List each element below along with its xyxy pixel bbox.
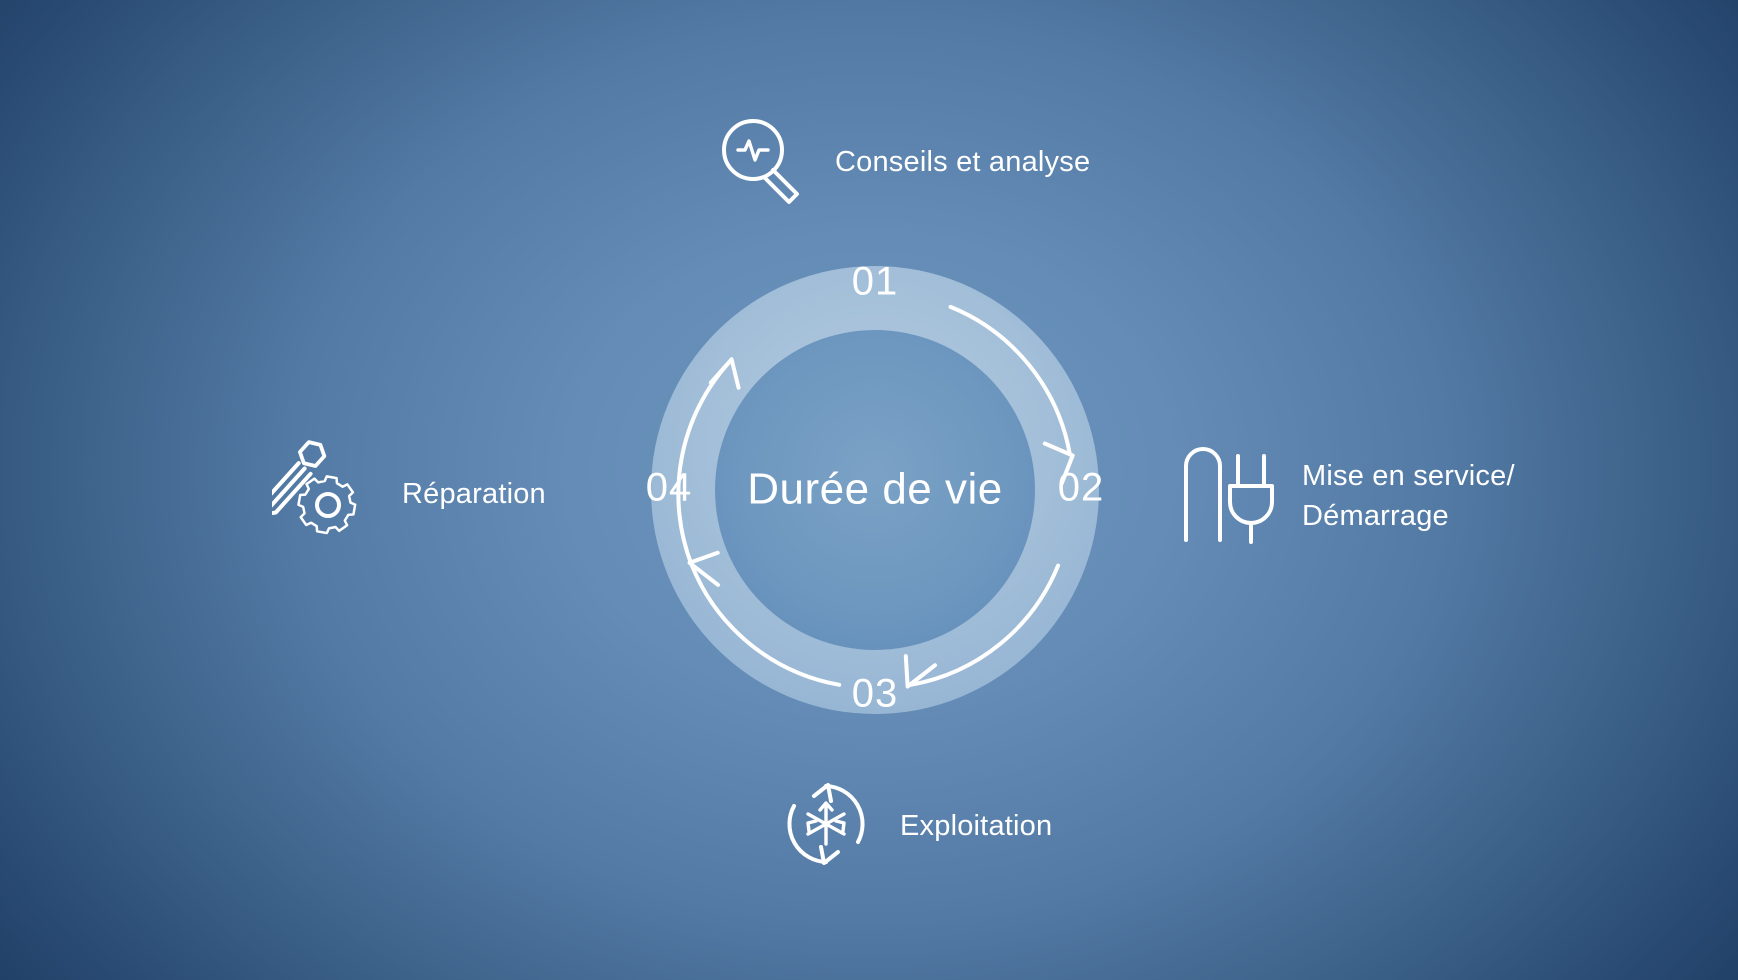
step-number-02: 02	[1058, 466, 1105, 510]
step-node-conseils-et-analyse: Conseils et analyse	[713, 112, 1090, 213]
step-node-mise-en-service: Mise en service/ Démarrage	[1178, 440, 1515, 553]
step-number-03: 03	[852, 672, 899, 716]
power-plug-icon	[1178, 440, 1276, 553]
lifecycle-diagram: 01 02 03 04 Durée de vie Conseils et ana…	[0, 0, 1738, 980]
step-node-exploitation: Exploitation	[778, 776, 1052, 877]
step-node-reparation: Réparation	[272, 440, 546, 549]
step-label-01: Conseils et analyse	[835, 143, 1090, 182]
magnifier-pulse-icon	[713, 112, 809, 213]
step-number-01: 01	[852, 260, 899, 304]
step-label-03: Exploitation	[900, 807, 1052, 846]
cycle-center-label: Durée de vie	[747, 465, 1002, 514]
recycle-arrows-icon	[778, 776, 874, 877]
step-number-04: 04	[646, 466, 693, 510]
step-label-02: Mise en service/ Démarrage	[1302, 457, 1515, 536]
cycle-wheel: 01 02 03 04 Durée de vie	[613, 228, 1137, 752]
step-label-04: Réparation	[402, 475, 546, 514]
wrench-gear-icon	[272, 440, 376, 549]
